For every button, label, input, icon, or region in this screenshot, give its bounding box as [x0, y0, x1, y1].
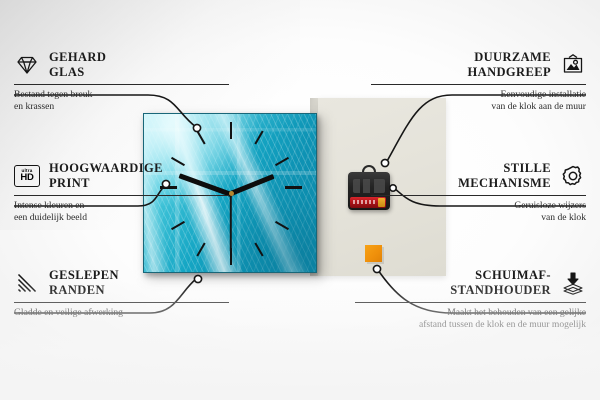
- feature-header: GEHARD GLAS: [14, 50, 229, 80]
- feature-description: Eenvoudige installatie van de klok aan d…: [371, 89, 586, 114]
- feature-divider: [14, 195, 229, 196]
- feature-header: DUURZAME HANDGREEP: [371, 50, 586, 80]
- foam-spacer-icon: [560, 271, 586, 295]
- clock-foam-spacer: [365, 245, 382, 262]
- ultra-hd-icon: ultra HD: [14, 165, 40, 187]
- feature-description: Intense kleuren en een duidelijk beeld: [14, 200, 229, 225]
- clock-tick-3: [285, 186, 302, 189]
- feature-title: STILLE MECHANISME: [458, 161, 551, 191]
- feature-description: Bestand tegen breuk en krassen: [14, 89, 229, 114]
- clock-second-hand: [230, 194, 232, 252]
- picture-frame-hanger-icon: [560, 53, 586, 77]
- feature-divider: [371, 195, 586, 196]
- feature-duurzame-handgreep: DUURZAME HANDGREEP Eenvoudige installati…: [371, 50, 586, 114]
- feature-title: SCHUIMAF- STANDHOUDER: [450, 268, 551, 298]
- feature-gehard-glas: GEHARD GLAS Bestand tegen breuk en krass…: [14, 50, 229, 114]
- feature-header: ultra HD HOOGWAARDIGE PRINT: [14, 161, 229, 191]
- product-infographic: GEHARD GLAS Bestand tegen breuk en krass…: [0, 0, 600, 400]
- ultra-hd-icon-big-label: HD: [20, 173, 33, 183]
- feature-schuimafstandhouder: SCHUIMAF- STANDHOUDER Maakt het behouden…: [355, 268, 586, 332]
- feature-header: STILLE MECHANISME: [371, 161, 586, 191]
- feature-stille-mechanisme: STILLE MECHANISME Geruisloze wijzers van…: [371, 161, 586, 225]
- feature-divider: [14, 84, 229, 85]
- feature-divider: [14, 302, 229, 303]
- feature-description: Maakt het behouden van een gelijke afsta…: [355, 307, 586, 332]
- feature-divider: [355, 302, 586, 303]
- clock-center-pin: [229, 191, 234, 196]
- feature-title: HOOGWAARDIGE PRINT: [49, 161, 163, 191]
- gear-icon: [560, 164, 586, 188]
- feature-header: GESLEPEN RANDEN: [14, 268, 229, 298]
- feature-title: GEHARD GLAS: [49, 50, 106, 80]
- feature-description: Gladde en veilige afwerking: [14, 307, 229, 320]
- diamond-icon: [14, 53, 40, 77]
- clock-tick-12: [230, 122, 232, 139]
- feature-description: Geruisloze wijzers van de klok: [371, 200, 586, 225]
- feature-hoogwaardige-print: ultra HD HOOGWAARDIGE PRINT Intense kleu…: [14, 161, 229, 225]
- beveled-edges-icon: [14, 271, 40, 295]
- feature-divider: [371, 84, 586, 85]
- feature-title: DUURZAME HANDGREEP: [468, 50, 551, 80]
- feature-header: SCHUIMAF- STANDHOUDER: [355, 268, 586, 298]
- feature-title: GESLEPEN RANDEN: [49, 268, 119, 298]
- feature-geslepen-randen: GESLEPEN RANDEN Gladde en veilige afwerk…: [14, 268, 229, 319]
